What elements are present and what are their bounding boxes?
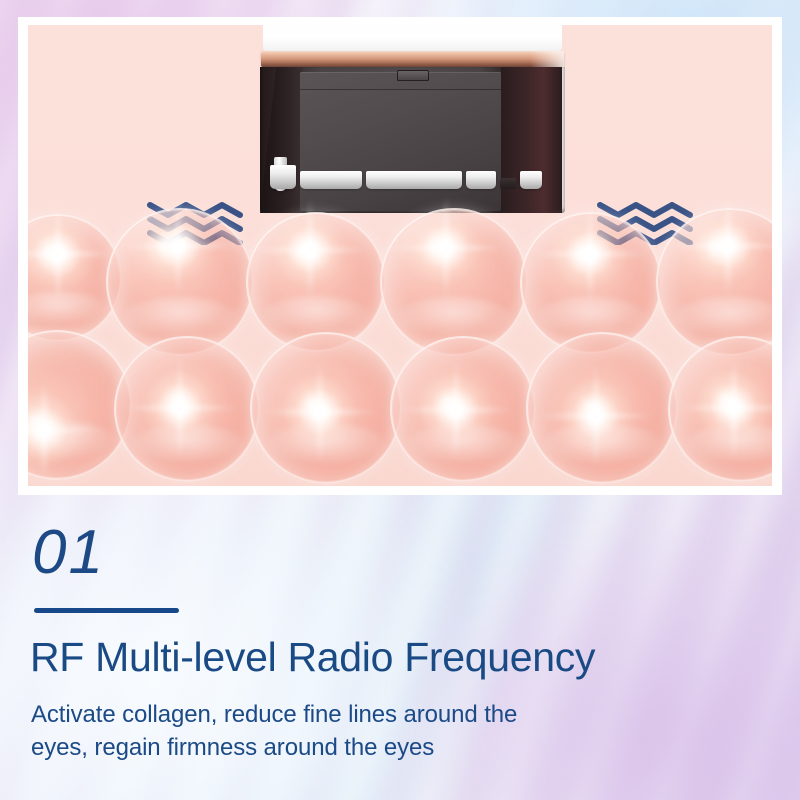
- device-left-bevel: [260, 67, 303, 213]
- electrode-gap-block: [500, 178, 516, 189]
- collagen-cell: [106, 208, 254, 356]
- device-rose-gold-band: [261, 51, 564, 67]
- collagen-cell: [246, 212, 386, 352]
- step-number: 01: [32, 522, 105, 584]
- product-photo-card: [18, 17, 782, 495]
- collagen-cell: [250, 332, 402, 484]
- collagen-cell: [668, 336, 772, 482]
- collagen-cell: [380, 208, 528, 356]
- electrode-contact: [520, 171, 542, 189]
- product-photo: [28, 25, 772, 486]
- electrode-contact: [466, 171, 496, 189]
- page-title: RF Multi-level Radio Frequency: [30, 634, 595, 681]
- electrode-contact: [366, 171, 462, 189]
- device-shell-top: [263, 25, 562, 51]
- description-line-1: Activate collagen, reduce fine lines aro…: [31, 698, 517, 731]
- device-faceplate: [300, 72, 501, 211]
- collagen-cell-field: [28, 218, 772, 486]
- rf-device: [260, 25, 565, 213]
- promo-poster: 01 RF Multi-level Radio Frequency Activa…: [0, 0, 800, 800]
- device-seam-line: [300, 89, 501, 90]
- collagen-cell: [390, 336, 536, 482]
- description-line-2: eyes, regain firmness around the eyes: [31, 731, 517, 764]
- electrode-contact: [270, 165, 296, 189]
- electrode-contact: [300, 171, 362, 189]
- device-electrode-row: [270, 165, 559, 189]
- collagen-cell: [526, 332, 678, 484]
- device-right-bevel: [501, 67, 562, 213]
- device-head-body: [260, 67, 565, 213]
- caption-block: 01 RF Multi-level Radio Frequency Activa…: [0, 496, 800, 800]
- collagen-cell: [114, 336, 260, 482]
- device-notch-detail: [397, 70, 429, 81]
- description-text: Activate collagen, reduce fine lines aro…: [31, 698, 517, 764]
- step-divider-rule: [34, 608, 179, 613]
